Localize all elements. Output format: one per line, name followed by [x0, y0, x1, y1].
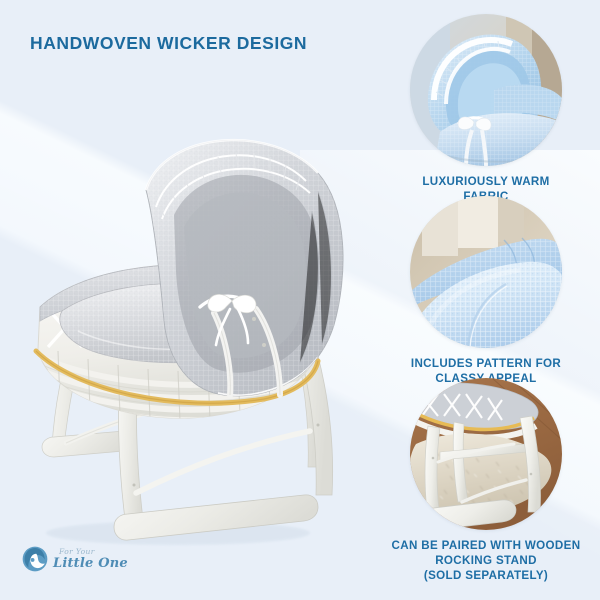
- brand-logo: For Your Little One: [22, 539, 152, 579]
- caption-line: LUXURIOUSLY WARM: [422, 175, 549, 188]
- caption-line: INCLUDES PATTERN FOR: [411, 357, 561, 370]
- feature-pattern: INCLUDES PATTERN FOR CLASSY APPEAL: [372, 196, 600, 387]
- logo-wordmark: For Your Little One: [53, 548, 128, 570]
- logo-line-bottom: Little One: [53, 557, 128, 570]
- feature-stand-thumbnail: [410, 378, 562, 530]
- hero-product-image: [18, 95, 368, 555]
- feature-fabric-thumbnail: [410, 14, 562, 166]
- feature-stand-caption: CAN BE PAIRED WITH WOODEN ROCKING STAND …: [372, 539, 600, 583]
- feature-fabric: LUXURIOUSLY WARM FABRIC: [372, 14, 600, 205]
- logo-line-top: For Your: [59, 548, 128, 556]
- infographic-canvas: HANDWOVEN WICKER DESIGN: [0, 0, 600, 600]
- caption-line: ROCKING STAND: [435, 554, 537, 567]
- feature-pattern-thumbnail: [410, 196, 562, 348]
- feature-list: LUXURIOUSLY WARM FABRIC: [372, 0, 600, 600]
- page-title: HANDWOVEN WICKER DESIGN: [30, 33, 380, 54]
- caption-line: CAN BE PAIRED WITH WOODEN: [392, 539, 581, 552]
- feature-stand: CAN BE PAIRED WITH WOODEN ROCKING STAND …: [372, 378, 600, 583]
- caption-line: (SOLD SEPARATELY): [424, 569, 548, 582]
- mother-and-baby-circle-icon: [22, 546, 48, 572]
